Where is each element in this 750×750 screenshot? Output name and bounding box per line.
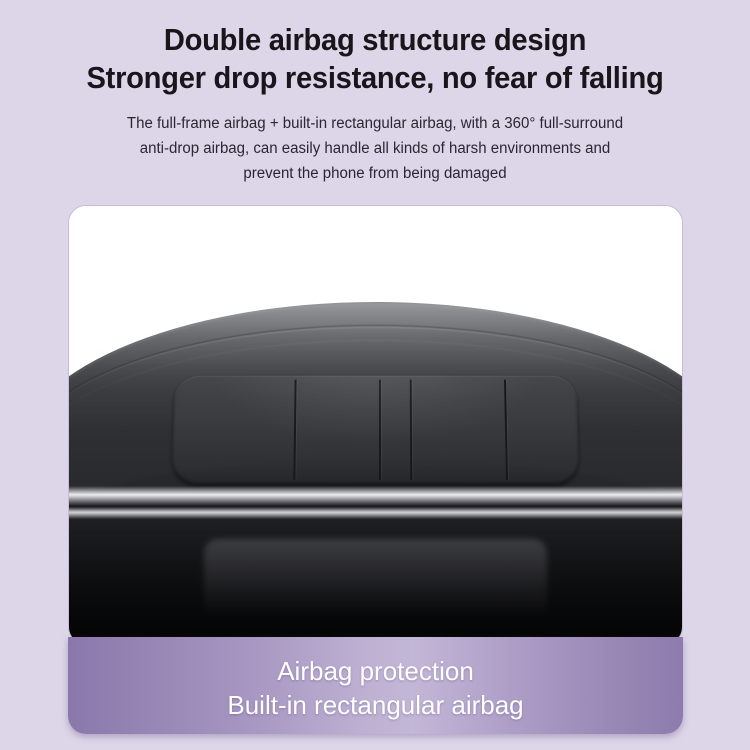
description-line-1: The full-frame airbag + built-in rectang… [11,111,739,136]
description-line-2: anti-drop airbag, can easily handle all … [11,136,739,161]
headline-line-1: Double airbag structure design [23,21,728,59]
description-line-3: prevent the phone from being damaged [11,161,739,186]
airbag-panel-reflection [204,539,547,618]
headline-line-2: Stronger drop resistance, no fear of fal… [23,59,728,97]
phone-case-macro-photo [69,206,682,644]
header-text-block: Double airbag structure design Stronger … [0,0,750,186]
product-image-card [68,205,683,645]
caption-line-2: Built-in rectangular airbag [227,688,523,722]
page-title: Double airbag structure design Stronger … [23,0,728,97]
caption-line-1: Airbag protection [277,654,474,688]
description-paragraph: The full-frame airbag + built-in rectang… [11,97,739,186]
caption-banner: Airbag protection Built-in rectangular a… [68,637,683,734]
